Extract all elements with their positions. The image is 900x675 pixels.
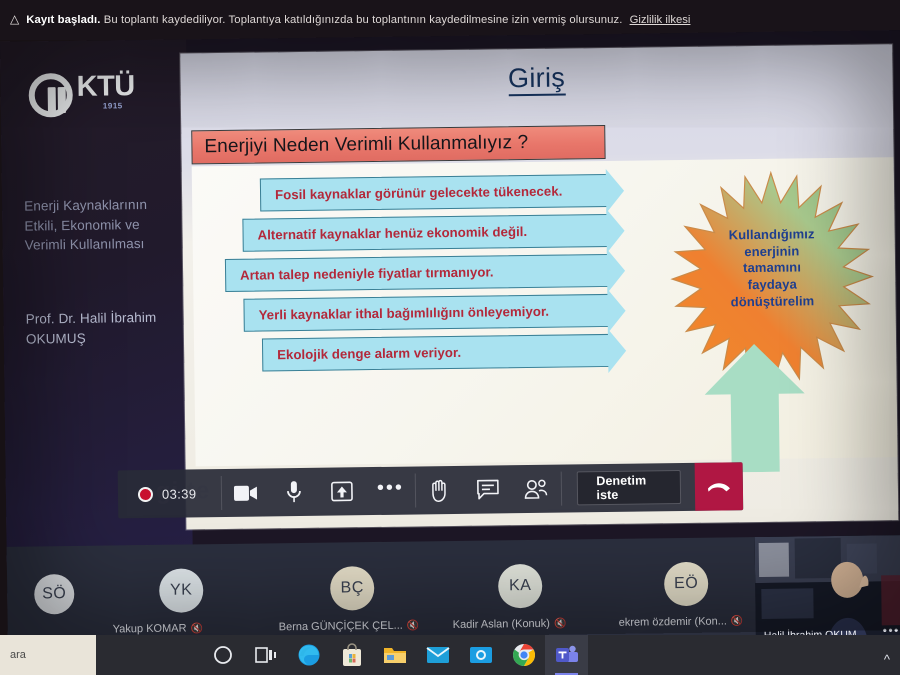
- privacy-policy-link[interactable]: Gizlilik ilkesi: [630, 14, 691, 26]
- chrome-icon[interactable]: [502, 635, 545, 675]
- callout-arrow: Alternatif kaynaklar henüz ekonomik deği…: [242, 214, 608, 252]
- participant-name: Berna GÜNÇİÇEK ÇEL...: [279, 620, 403, 634]
- camera-icon[interactable]: [459, 635, 502, 675]
- mail-icon[interactable]: [416, 635, 459, 675]
- chat-button[interactable]: [464, 465, 513, 514]
- participant-name-row: Berna GÜNÇİÇEK ÇEL... 🔇: [279, 619, 420, 633]
- callout-arrow: Yerli kaynaklar ithal bağımlılığını önle…: [243, 294, 609, 332]
- teams-icon[interactable]: [545, 635, 588, 675]
- edge-icon[interactable]: [287, 635, 330, 675]
- screenshot-root: △ Kayıt başladı. Bu toplantı kaydediliyo…: [0, 0, 900, 675]
- chevron-up-icon[interactable]: ^: [884, 652, 890, 667]
- task-view-icon[interactable]: [244, 635, 287, 675]
- monitor-screen: KTÜ 1915 Enerji Kaynaklarının Etkili, Ek…: [0, 30, 900, 642]
- search-placeholder: ara: [10, 649, 26, 661]
- more-options-icon: •••: [377, 488, 404, 494]
- request-control-button[interactable]: Denetim iste: [577, 470, 681, 505]
- avatar: SÖ: [34, 574, 75, 615]
- callout-arrow-tip: [606, 169, 625, 213]
- recording-banner-lead: Kayıt başladı.: [26, 14, 100, 26]
- search-input[interactable]: ara: [0, 635, 96, 675]
- avatar: EÖ: [664, 562, 709, 607]
- callout-text: Artan talep nedeniyle fiyatlar tırmanıyo…: [226, 264, 494, 282]
- chat-icon: [477, 479, 499, 499]
- participant-name-row: ekrem özdemir (Kon... 🔇: [619, 615, 744, 629]
- mic-muted-icon: 🔇: [731, 616, 744, 627]
- avatar: YK: [159, 568, 204, 613]
- callout-arrow-tip: [606, 209, 625, 253]
- mic-muted-icon: 🔇: [190, 623, 203, 634]
- camera-icon: [233, 484, 257, 501]
- callout-text: Alternatif kaynaklar henüz ekonomik deği…: [243, 224, 527, 243]
- windows-taskbar: ara: [0, 635, 900, 675]
- share-screen-button[interactable]: [318, 467, 367, 516]
- ktu-logo-year: 1915: [103, 101, 123, 110]
- avatar-initials: BÇ: [340, 579, 363, 597]
- camera-button[interactable]: [221, 468, 270, 517]
- taskbar-icons: [201, 635, 588, 675]
- callout-arrow: Artan talep nedeniyle fiyatlar tırmanıyo…: [225, 254, 609, 292]
- microphone-button[interactable]: [269, 468, 318, 517]
- avatar: KA: [498, 564, 543, 609]
- presentation-title: Enerji Kaynaklarının Etkili, Ekonomik ve…: [24, 195, 177, 256]
- ktu-logo-mark-icon: [28, 73, 73, 118]
- slide-title-text: Giriş: [508, 62, 565, 96]
- shared-slide: Giriş Enerjiyi Neden Verimli Kullanmalıy…: [180, 44, 898, 529]
- recording-banner-message: Bu toplantı kaydediliyor. Toplantıya kat…: [100, 14, 622, 26]
- callout-arrow: Ekolojik denge alarm veriyor.: [262, 334, 610, 372]
- microsoft-store-icon[interactable]: [330, 635, 373, 675]
- participant-name-row: Kadir Aslan (Konuk) 🔇: [453, 618, 567, 631]
- callout-text: Yerli kaynaklar ithal bağımlılığını önle…: [245, 304, 550, 323]
- microphone-icon: [287, 481, 301, 503]
- callout-arrow-tip: [608, 329, 627, 373]
- raise-hand-button[interactable]: [415, 466, 464, 515]
- avatar-initials: KA: [509, 577, 532, 595]
- presenter-name: Prof. Dr. Halil İbrahim OKUMUŞ: [26, 308, 178, 349]
- record-timer: 03:39: [162, 486, 197, 501]
- avatar-initials: SÖ: [42, 585, 66, 603]
- callout-arrow-tip: [607, 249, 626, 293]
- callout-arrow-tip: [607, 289, 626, 333]
- hangup-icon: [706, 479, 732, 493]
- participant-tile[interactable]: EÖ ekrem özdemir (Kon... 🔇: [609, 537, 776, 649]
- people-icon: [524, 479, 548, 499]
- recording-indicator: 03:39: [118, 469, 221, 518]
- slide-header-text: Enerjiyi Neden Verimli Kullanmalıyız ?: [204, 132, 528, 158]
- control-divider: [560, 472, 561, 506]
- mic-muted-icon: 🔇: [407, 620, 420, 631]
- participant-name: Kadir Aslan (Konuk): [453, 618, 550, 631]
- participant-name-row: Yakup KOMAR 🔇: [113, 622, 203, 635]
- hangup-button[interactable]: [694, 462, 743, 511]
- callout-text: Fosil kaynaklar görünür gelecekte tükene…: [261, 184, 562, 203]
- slide-title: Giriş: [180, 58, 892, 98]
- slide-header-box: Enerjiyi Neden Verimli Kullanmalıyız ?: [191, 125, 605, 164]
- up-arrow-shape: [700, 341, 810, 477]
- meeting-control-bar: 03:39: [118, 462, 744, 518]
- cortana-icon[interactable]: [201, 635, 244, 675]
- callout-text: Ekolojik denge alarm veriyor.: [263, 345, 461, 363]
- raise-hand-icon: [430, 479, 450, 502]
- participant-name: ekrem özdemir (Kon...: [619, 615, 727, 628]
- share-screen-icon: [331, 481, 353, 501]
- more-options-button[interactable]: •••: [366, 467, 415, 516]
- file-explorer-icon[interactable]: [373, 635, 416, 675]
- mic-muted-icon: 🔇: [554, 618, 567, 629]
- avatar-initials: EÖ: [674, 575, 698, 593]
- record-dot-icon: [138, 486, 153, 501]
- ktu-logo-text: KTÜ: [76, 72, 134, 102]
- video-tile[interactable]: Halil İbrahim OKUM... •••: [755, 535, 900, 647]
- ktu-logo: KTÜ 1915: [28, 70, 169, 122]
- warning-triangle-icon: △: [10, 13, 19, 25]
- starburst-line: dönüştürelim: [669, 292, 875, 311]
- participant-name: Yakup KOMAR: [113, 623, 187, 636]
- callout-arrow: Fosil kaynaklar görünür gelecekte tükene…: [260, 174, 608, 212]
- starburst-text: Kullandığımız enerjinin tamamını faydaya…: [669, 225, 876, 311]
- avatar: BÇ: [330, 566, 375, 611]
- recording-banner-text: Kayıt başladı. Bu toplantı kaydediliyor.…: [26, 14, 622, 26]
- avatar-initials: YK: [170, 581, 193, 599]
- people-button[interactable]: [512, 465, 561, 514]
- up-arrow-icon: [700, 341, 810, 472]
